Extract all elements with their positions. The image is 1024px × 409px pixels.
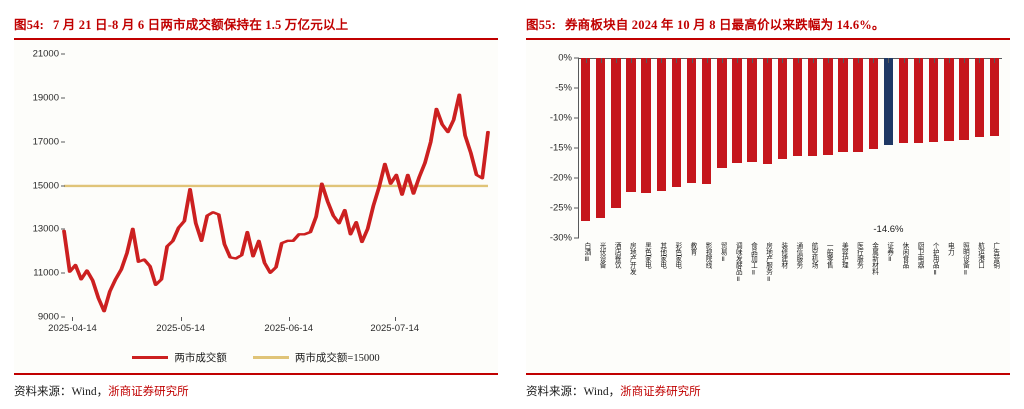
source-brand: 浙商证券研究所: [108, 386, 189, 398]
bar[interactable]: [823, 58, 832, 156]
bar[interactable]: [747, 58, 756, 162]
category-cell: 白酒Ⅲ: [578, 242, 593, 283]
source-brand-2: 浙商证券研究所: [620, 386, 701, 398]
y-tick-mark: [574, 147, 579, 148]
bar[interactable]: [657, 58, 666, 192]
legend-item-threshold: 两市成交额=15000: [253, 350, 380, 365]
bar-tick-mark: [676, 58, 677, 63]
legend: 两市成交额 两市成交额=15000: [14, 350, 498, 365]
y-tick-mark: [61, 185, 65, 186]
bar-tick-mark: [873, 58, 874, 63]
bar[interactable]: [929, 58, 938, 142]
bar-cell[interactable]: [881, 58, 896, 238]
y-tick-label: 11000: [33, 268, 59, 279]
bar-cell[interactable]: [669, 58, 684, 238]
category-label: 光伏设备: [597, 242, 604, 283]
bar-cell[interactable]: [654, 58, 669, 238]
legend-swatch-threshold: [253, 356, 289, 359]
category-label: 美容护理: [840, 242, 847, 283]
bar-cell[interactable]: [896, 58, 911, 238]
bar-series: [578, 58, 1002, 238]
bar-tick-mark: [919, 58, 920, 63]
source-note-2: 资料来源：Wind，浙商证券研究所: [526, 375, 1010, 409]
bar-cell[interactable]: [729, 58, 744, 238]
bar[interactable]: [793, 58, 802, 156]
category-label: 装修建材: [779, 242, 786, 283]
category-label: 休闲食品: [900, 242, 907, 283]
y-tick-mark: [61, 97, 65, 98]
bar[interactable]: [838, 58, 847, 153]
bar-tick-mark: [979, 58, 980, 63]
legend-label-threshold: 两市成交额=15000: [295, 350, 380, 365]
bar-cell[interactable]: [699, 58, 714, 238]
y-tick-label: -20%: [550, 172, 572, 183]
bar-cell[interactable]: [608, 58, 623, 238]
bar[interactable]: [717, 58, 726, 168]
bar[interactable]: [914, 58, 923, 143]
bar-tick-mark: [934, 58, 935, 63]
bar-cell[interactable]: [941, 58, 956, 238]
category-cell: 贸易Ⅱ: [714, 242, 729, 283]
y-tick-mark: [574, 117, 579, 118]
bar[interactable]: [869, 58, 878, 150]
bar-tick-mark: [616, 58, 617, 63]
highlight-annotation: -14.6%: [873, 224, 903, 235]
bar-cell[interactable]: [623, 58, 638, 238]
turnover-line: [64, 94, 488, 311]
bar[interactable]: [959, 58, 968, 140]
source-prefix: 资料来源：: [14, 386, 72, 398]
bar-plot-area: 0%-5%-10%-15%-20%-25%-30%: [578, 58, 1002, 238]
bar-cell[interactable]: [820, 58, 835, 238]
y-tick-mark: [61, 141, 65, 142]
category-cell: 航运港口: [972, 242, 987, 283]
bar[interactable]: [899, 58, 908, 144]
bar-tick-mark: [858, 58, 859, 63]
category-label: 教育: [688, 242, 695, 283]
bar-cell[interactable]: [851, 58, 866, 238]
category-label: 其他家电: [658, 242, 665, 283]
y-tick-mark: [574, 207, 579, 208]
bar[interactable]: [702, 58, 711, 185]
y-tick-label: 17000: [33, 136, 59, 147]
bar[interactable]: [687, 58, 696, 183]
category-label: 房地产开发: [628, 242, 635, 283]
category-cell: 黑色家电: [639, 242, 654, 283]
category-label: 金属新材料: [870, 242, 877, 283]
category-cell: 个护用品Ⅱ: [926, 242, 941, 283]
x-tick-label: 2025-05-14: [156, 323, 205, 334]
line-chart-body: 90001100013000150001700019000210002025-0…: [14, 40, 498, 374]
category-label: 个护用品Ⅱ: [930, 242, 937, 283]
figure-54-panel: 图54:7 月 21 日-8 月 6 日两市成交额保持在 1.5 万亿元以上 9…: [0, 0, 512, 409]
x-tick-label: 2025-04-14: [48, 323, 97, 334]
category-label: 证券Ⅱ: [885, 242, 892, 283]
bar[interactable]: [596, 58, 605, 219]
bar-tick-mark: [888, 58, 889, 63]
y-tick-mark: [61, 229, 65, 230]
bar-tick-mark: [737, 58, 738, 63]
category-cell: 医疗服务: [851, 242, 866, 283]
bar-tick-mark: [752, 58, 753, 63]
category-cell: 光伏设备: [593, 242, 608, 283]
y-tick-label: 15000: [33, 180, 59, 191]
bar[interactable]: [581, 58, 590, 222]
bar-cell[interactable]: [926, 58, 941, 238]
bar[interactable]: [626, 58, 635, 192]
x-tick-label: 2025-06-14: [264, 323, 313, 334]
category-label: 食品加工Ⅱ: [749, 242, 756, 283]
y-tick-mark: [574, 237, 579, 238]
bar[interactable]: [611, 58, 620, 209]
category-cell: 证券Ⅱ: [881, 242, 896, 283]
category-cell: 影视院线: [699, 242, 714, 283]
bar-tick-mark: [631, 58, 632, 63]
bar-highlighted[interactable]: [884, 58, 893, 146]
category-label: 调味发酵品Ⅱ: [734, 242, 741, 283]
bar-tick-mark: [798, 58, 799, 63]
bar[interactable]: [641, 58, 650, 194]
category-label: 影视院线: [703, 242, 710, 283]
legend-label-turnover: 两市成交额: [174, 350, 227, 365]
bar[interactable]: [672, 58, 681, 188]
category-label: 贸易Ⅱ: [718, 242, 725, 283]
category-cell: 房地产开发: [623, 242, 638, 283]
legend-item-turnover: 两市成交额: [132, 350, 227, 365]
category-cell: 美容护理: [835, 242, 850, 283]
bar-cell[interactable]: [987, 58, 1002, 238]
category-label: 照明设备Ⅱ: [961, 242, 968, 283]
bar-cell[interactable]: [790, 58, 805, 238]
bar[interactable]: [778, 58, 787, 159]
y-tick-label: -30%: [550, 232, 572, 243]
figure-title-text: 7 月 21 日-8 月 6 日两市成交额保持在 1.5 万亿元以上: [53, 18, 348, 32]
category-label: 白酒Ⅲ: [582, 242, 589, 283]
category-label: 医疗服务: [855, 242, 862, 283]
category-cell: 航空机场: [805, 242, 820, 283]
y-tick-mark: [574, 87, 579, 88]
figure-number-2: 图55:: [526, 18, 556, 32]
bar-cell[interactable]: [972, 58, 987, 238]
category-label: 房地产服务Ⅱ: [764, 242, 771, 283]
legend-swatch-turnover: [132, 356, 168, 359]
y-tick-label: -25%: [550, 202, 572, 213]
bar[interactable]: [975, 58, 984, 137]
category-cell: 照明设备Ⅱ: [957, 242, 972, 283]
bar-tick-mark: [949, 58, 950, 63]
category-label: 航运港口: [976, 242, 983, 283]
category-cell: 通信服务: [790, 242, 805, 283]
category-cell: 装修建材: [775, 242, 790, 283]
category-label: 黑色家电: [643, 242, 650, 283]
bar-cell[interactable]: [835, 58, 850, 238]
source-prefix-2: 资料来源：: [526, 386, 584, 398]
category-cell: 厨卫电器: [911, 242, 926, 283]
figure-title-text-2: 券商板块自 2024 年 10 月 8 日最高价以来跌幅为 14.6%。: [565, 18, 885, 32]
category-label: 一般零售: [824, 242, 831, 283]
bar-cell[interactable]: [684, 58, 699, 238]
bar-cell[interactable]: [957, 58, 972, 238]
y-tick-label: 21000: [33, 48, 59, 59]
category-cell: 教育: [684, 242, 699, 283]
y-tick-mark: [61, 53, 65, 54]
category-label: 厨卫电器: [915, 242, 922, 283]
figure-54-header: 图54:7 月 21 日-8 月 6 日两市成交额保持在 1.5 万亿元以上: [14, 0, 498, 40]
bar-tick-mark: [767, 58, 768, 63]
category-label: 广告营销: [991, 242, 998, 283]
figure-number: 图54:: [14, 18, 44, 32]
x-tick-mark: [72, 317, 73, 321]
bar-tick-mark: [707, 58, 708, 63]
category-label: 通信服务: [794, 242, 801, 283]
x-tick-mark: [181, 317, 182, 321]
bar-cell[interactable]: [866, 58, 881, 238]
bar[interactable]: [808, 58, 817, 156]
bar-tick-mark: [994, 58, 995, 63]
category-label: 电力: [946, 242, 953, 283]
x-tick-mark: [289, 317, 290, 321]
category-cell: 食品加工Ⅱ: [745, 242, 760, 283]
bar-cell[interactable]: [760, 58, 775, 238]
category-cell: 调味发酵品Ⅱ: [729, 242, 744, 283]
y-tick-label: -5%: [555, 82, 572, 93]
category-label: 酒店餐饮: [612, 242, 619, 283]
y-tick-label: -15%: [550, 142, 572, 153]
bar[interactable]: [732, 58, 741, 164]
source-note: 资料来源：Wind，浙商证券研究所: [14, 375, 498, 409]
category-cell: 酒店餐饮: [608, 242, 623, 283]
category-label: 彩色家电: [673, 242, 680, 283]
category-cell: 其他家电: [654, 242, 669, 283]
category-cell: 广告营销: [987, 242, 1002, 283]
bar-cell[interactable]: [805, 58, 820, 238]
bar-tick-mark: [843, 58, 844, 63]
bar-chart-body: 0%-5%-10%-15%-20%-25%-30% 白酒Ⅲ光伏设备酒店餐饮房地产…: [526, 40, 1010, 374]
y-tick-mark: [574, 57, 579, 58]
bar[interactable]: [990, 58, 999, 136]
figure-55-panel: 图55:券商板块自 2024 年 10 月 8 日最高价以来跌幅为 14.6%。…: [512, 0, 1024, 409]
category-label: 航空机场: [809, 242, 816, 283]
bar-tick-mark: [782, 58, 783, 63]
category-cell: 房地产服务Ⅱ: [760, 242, 775, 283]
x-tick-mark: [395, 317, 396, 321]
bar[interactable]: [944, 58, 953, 141]
y-tick-label: 0%: [558, 52, 572, 63]
bar-cell[interactable]: [745, 58, 760, 238]
y-tick-label: 13000: [33, 224, 59, 235]
y-tick-mark: [574, 177, 579, 178]
page-title: 图54:7 月 21 日-8 月 6 日两市成交额保持在 1.5 万亿元以上: [14, 14, 498, 38]
bar-tick-mark: [813, 58, 814, 63]
y-tick-mark: [61, 273, 65, 274]
bar-tick-mark: [646, 58, 647, 63]
bar[interactable]: [853, 58, 862, 152]
line-plot-area: 90001100013000150001700019000210002025-0…: [64, 54, 488, 318]
category-cell: 休闲食品: [896, 242, 911, 283]
category-cell: 一般零售: [820, 242, 835, 283]
bar-tick-mark: [586, 58, 587, 63]
bar-cell[interactable]: [911, 58, 926, 238]
figure-55-header: 图55:券商板块自 2024 年 10 月 8 日最高价以来跌幅为 14.6%。: [526, 0, 1010, 40]
y-tick-label: -10%: [550, 112, 572, 123]
bar-cell[interactable]: [639, 58, 654, 238]
y-tick-mark: [61, 317, 65, 318]
bar-cell[interactable]: [775, 58, 790, 238]
bar-chart: 0%-5%-10%-15%-20%-25%-30% 白酒Ⅲ光伏设备酒店餐饮房地产…: [526, 40, 1010, 374]
category-cell: 电力: [941, 242, 956, 283]
y-tick-label: 19000: [33, 92, 59, 103]
bar-cell[interactable]: [593, 58, 608, 238]
x-tick-label: 2025-07-14: [370, 323, 419, 334]
y-tick-label: 9000: [38, 312, 59, 323]
bar-cell[interactable]: [714, 58, 729, 238]
bar[interactable]: [763, 58, 772, 164]
category-labels: 白酒Ⅲ光伏设备酒店餐饮房地产开发黑色家电其他家电彩色家电教育影视院线贸易Ⅱ调味发…: [578, 242, 1002, 283]
source-wind-2: Wind，: [584, 386, 621, 398]
bar-tick-mark: [601, 58, 602, 63]
figure-pair: 图54:7 月 21 日-8 月 6 日两市成交额保持在 1.5 万亿元以上 9…: [0, 0, 1024, 409]
line-series-svg: [64, 54, 488, 318]
bar-tick-mark: [964, 58, 965, 63]
source-wind: Wind，: [72, 386, 109, 398]
page-title-2: 图55:券商板块自 2024 年 10 月 8 日最高价以来跌幅为 14.6%。: [526, 14, 1010, 38]
category-cell: 金属新材料: [866, 242, 881, 283]
bar-tick-mark: [722, 58, 723, 63]
category-cell: 彩色家电: [669, 242, 684, 283]
bar-tick-mark: [692, 58, 693, 63]
bar-tick-mark: [661, 58, 662, 63]
line-chart: 90001100013000150001700019000210002025-0…: [14, 40, 498, 374]
bar-tick-mark: [828, 58, 829, 63]
bar-cell[interactable]: [578, 58, 593, 238]
bar-tick-mark: [904, 58, 905, 63]
